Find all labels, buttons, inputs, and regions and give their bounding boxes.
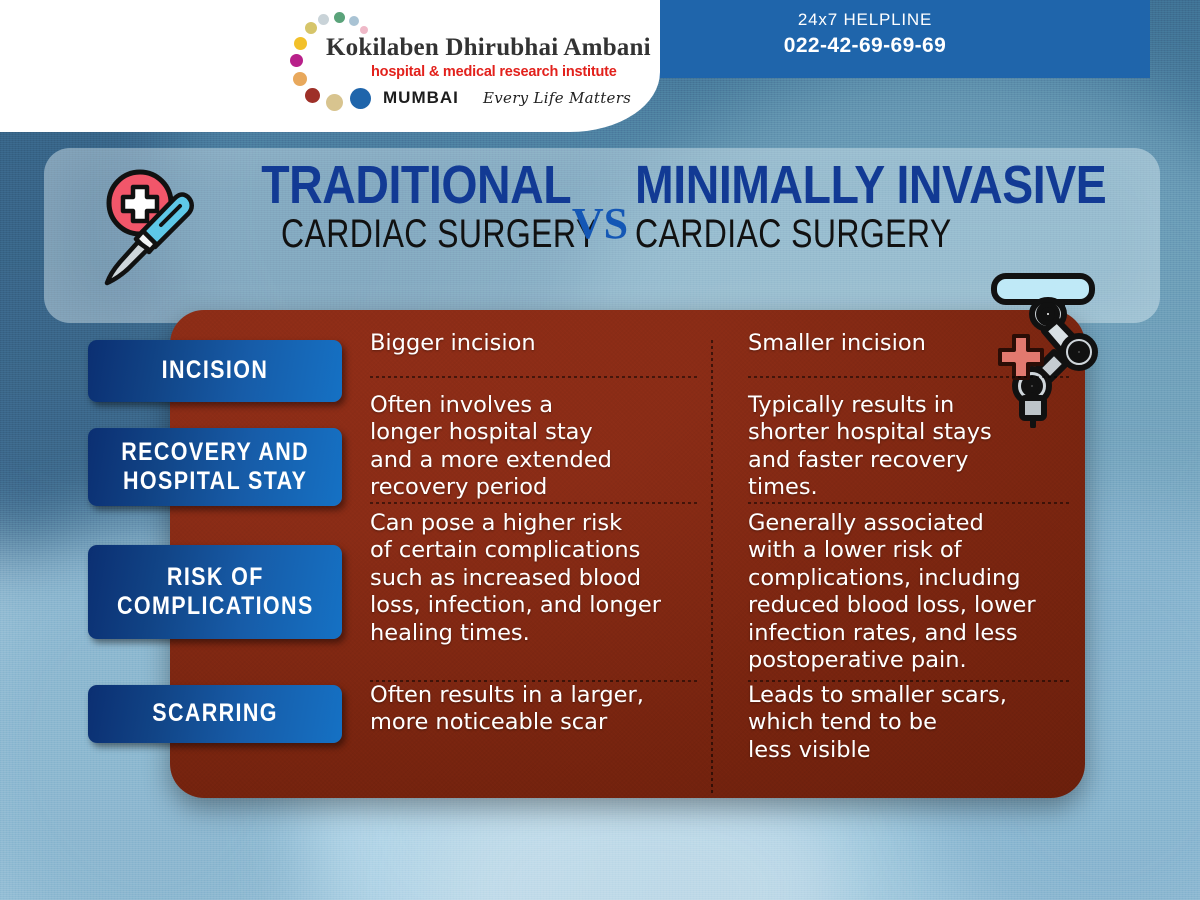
minimally-invasive-subtitle: CARDIAC SURGERY bbox=[635, 214, 1043, 255]
category-label-text: RISK OFCOMPLICATIONS bbox=[117, 563, 314, 622]
category-label-text: INCISION bbox=[162, 356, 269, 386]
logo-dot bbox=[318, 14, 329, 25]
logo-dot bbox=[334, 12, 345, 23]
helpline-label: 24x7 HELPLINE bbox=[700, 10, 1030, 30]
logo-dot bbox=[290, 54, 303, 67]
logo-tagline: Every Life Matters bbox=[483, 89, 631, 107]
helpline-block: 24x7 HELPLINE 022-42-69-69-69 bbox=[700, 10, 1030, 58]
logo-dot bbox=[326, 94, 343, 111]
category-label-text: SCARRING bbox=[152, 699, 278, 729]
logo-hospital-subtitle: hospital & medical research institute bbox=[371, 64, 631, 80]
logo-dot bbox=[293, 72, 307, 86]
row-separator bbox=[748, 376, 1070, 378]
logo-dot bbox=[294, 37, 307, 50]
traditional-title-block: TRADITIONAL CARDIAC SURGERY bbox=[215, 160, 545, 255]
logo-dot bbox=[305, 22, 317, 34]
category-label-1[interactable]: RECOVERY ANDHOSPITAL STAY bbox=[88, 428, 342, 506]
minimally-invasive-cell-2: Generally associated with a lower risk o… bbox=[748, 510, 1078, 675]
minimally-invasive-cell-0: Smaller incision bbox=[748, 330, 1078, 357]
minimally-invasive-cell-3: Leads to smaller scars, which tend to be… bbox=[748, 682, 1078, 764]
versus-label: VS bbox=[560, 198, 640, 249]
logo-hospital-name: Kokilaben Dhirubhai Ambani bbox=[326, 34, 626, 62]
logo-dot bbox=[350, 88, 371, 109]
infographic-canvas: Kokilaben Dhirubhai Ambani hospital & me… bbox=[0, 0, 1200, 900]
traditional-title: TRADITIONAL bbox=[261, 160, 545, 212]
logo-city: MUMBAI bbox=[383, 88, 459, 108]
minimally-invasive-title-block: MINIMALLY INVASIVE CARDIAC SURGERY bbox=[635, 160, 1145, 255]
helpline-number[interactable]: 022-42-69-69-69 bbox=[700, 34, 1030, 58]
category-label-3[interactable]: SCARRING bbox=[88, 685, 342, 743]
minimally-invasive-title: MINIMALLY INVASIVE bbox=[635, 160, 1074, 212]
traditional-cell-3: Often results in a larger, more noticeab… bbox=[370, 682, 722, 737]
hospital-logo: Kokilaben Dhirubhai Ambani hospital & me… bbox=[288, 12, 638, 112]
row-separator bbox=[370, 502, 700, 504]
scalpel-icon bbox=[92, 163, 208, 293]
category-label-text: RECOVERY ANDHOSPITAL STAY bbox=[121, 438, 309, 497]
row-separator bbox=[370, 376, 700, 378]
logo-dot bbox=[360, 26, 368, 34]
logo-dot bbox=[349, 16, 359, 26]
page-header: Kokilaben Dhirubhai Ambani hospital & me… bbox=[0, 0, 1200, 140]
row-separator bbox=[748, 680, 1070, 682]
traditional-cell-1: Often involves a longer hospital stay an… bbox=[370, 392, 722, 502]
traditional-subtitle: CARDIAC SURGERY bbox=[281, 214, 545, 255]
row-separator bbox=[748, 502, 1070, 504]
minimally-invasive-cell-1: Typically results in shorter hospital st… bbox=[748, 392, 1078, 502]
row-separator bbox=[370, 680, 700, 682]
category-label-0[interactable]: INCISION bbox=[88, 340, 342, 402]
category-label-2[interactable]: RISK OFCOMPLICATIONS bbox=[88, 545, 342, 639]
traditional-cell-2: Can pose a higher risk of certain compli… bbox=[370, 510, 722, 647]
traditional-cell-0: Bigger incision bbox=[370, 330, 722, 357]
logo-dot bbox=[305, 88, 320, 103]
